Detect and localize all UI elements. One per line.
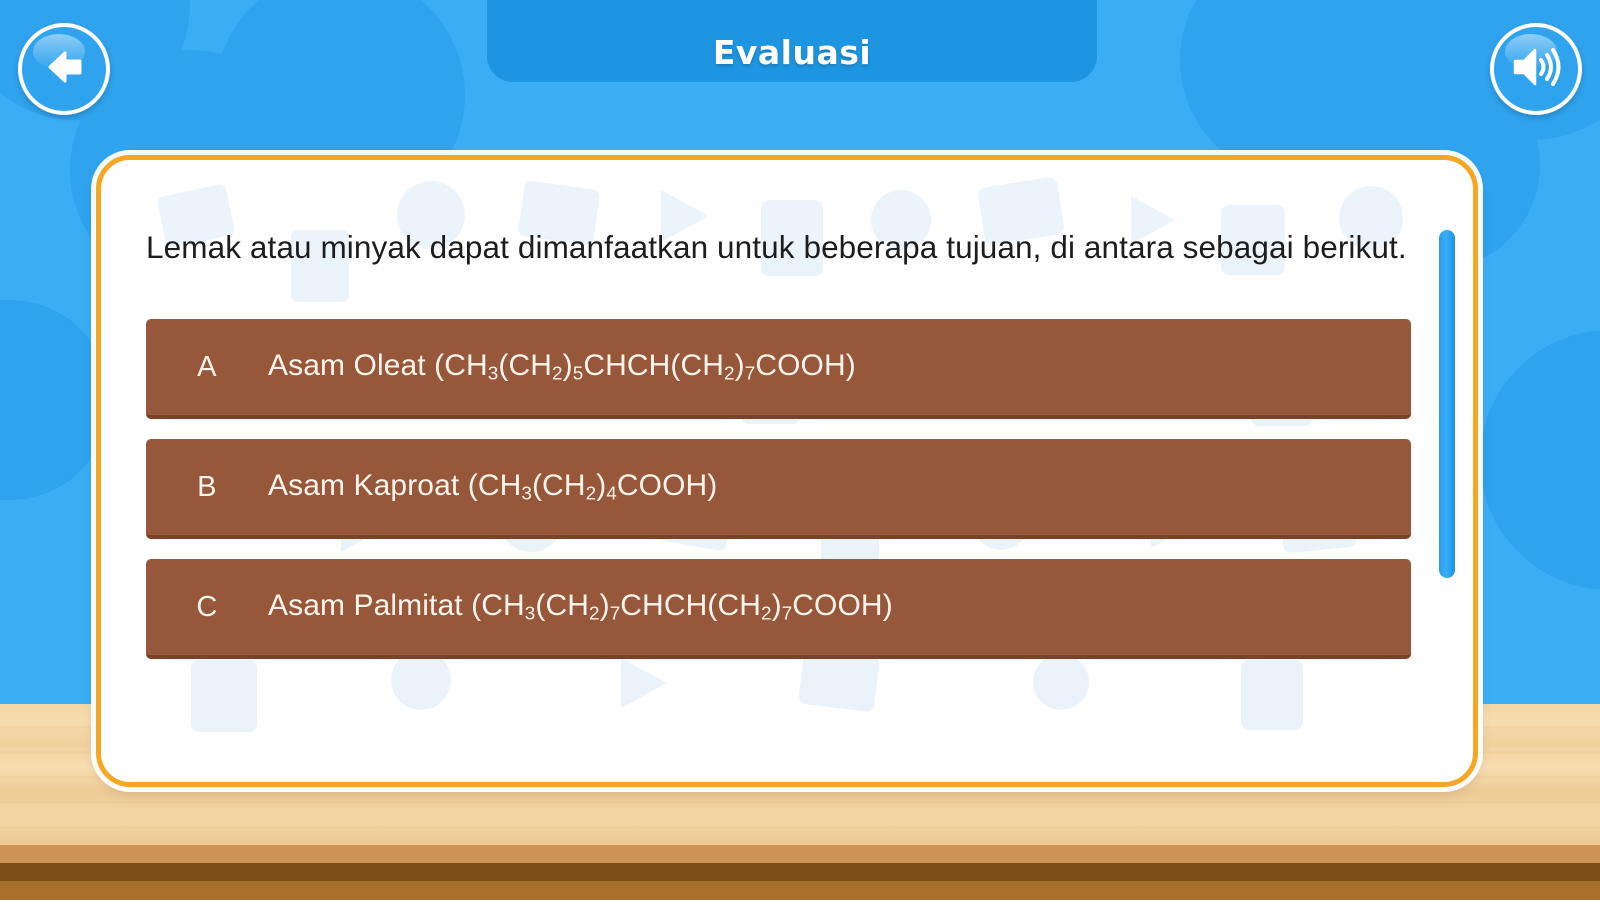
back-button[interactable] <box>18 23 110 115</box>
page-title: Evaluasi <box>713 33 871 72</box>
options-list: A Asam Oleat (CH3(CH2)5CHCH(CH2)7COOH) B… <box>146 319 1411 659</box>
option-row-c[interactable]: C Asam Palmitat (CH3(CH2)7CHCH(CH2)7COOH… <box>146 559 1411 659</box>
question-text: Lemak atau minyak dapat dimanfaatkan unt… <box>146 226 1416 269</box>
desk-shadow-band <box>0 863 1600 881</box>
option-label: Asam Kaproat (CH3(CH2)4COOH) <box>268 469 717 505</box>
scrollbar-thumb[interactable] <box>1439 230 1455 578</box>
option-label: Asam Palmitat (CH3(CH2)7CHCH(CH2)7COOH) <box>268 589 893 625</box>
arrow-left-icon <box>38 41 90 98</box>
option-row-b[interactable]: B Asam Kaproat (CH3(CH2)4COOH) <box>146 439 1411 539</box>
sound-button[interactable] <box>1490 23 1582 115</box>
option-letter: A <box>146 351 268 384</box>
question-card: Lemak atau minyak dapat dimanfaatkan unt… <box>96 155 1478 787</box>
scrollbar-track[interactable] <box>1439 230 1455 750</box>
option-label: Asam Oleat (CH3(CH2)5CHCH(CH2)7COOH) <box>268 349 856 385</box>
option-letter: C <box>146 591 268 624</box>
desk-front-panel <box>0 881 1600 900</box>
title-banner: Evaluasi <box>487 0 1097 82</box>
option-letter: B <box>146 471 268 504</box>
option-row-a[interactable]: A Asam Oleat (CH3(CH2)5CHCH(CH2)7COOH) <box>146 319 1411 419</box>
decorative-circle <box>0 300 110 500</box>
quiz-screen: Evaluasi <box>0 0 1600 900</box>
decorative-circle <box>1480 330 1600 590</box>
speaker-icon <box>1509 43 1563 96</box>
desk-edge <box>0 845 1600 863</box>
decorative-circle <box>1180 0 1420 180</box>
